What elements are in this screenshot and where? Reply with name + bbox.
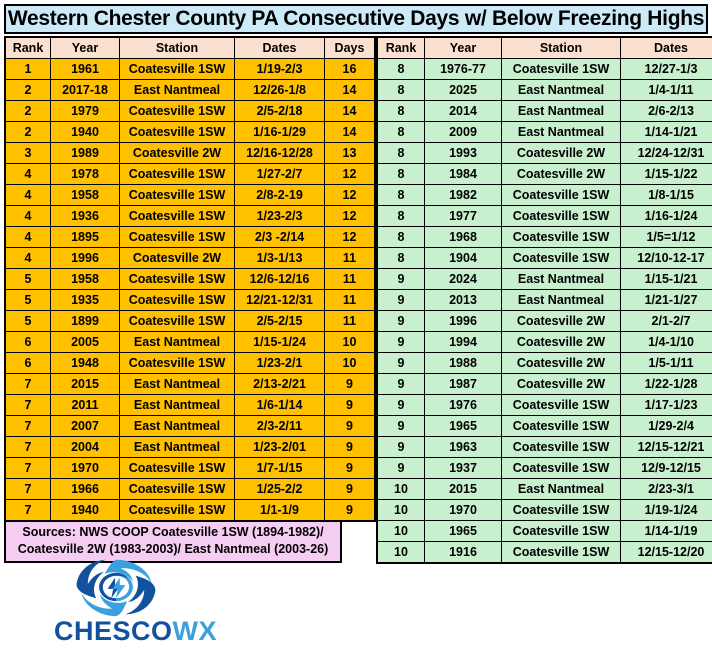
cell-rank: 7	[5, 458, 51, 479]
table-row: 81982Coatesville 1SW1/8-1/158	[377, 185, 712, 206]
cell-year: 1968	[425, 227, 502, 248]
cell-year: 1996	[51, 248, 120, 269]
cell-year: 1993	[425, 143, 502, 164]
header-days: Days	[325, 37, 376, 59]
cell-dates: 1/8-1/15	[621, 185, 712, 206]
cell-days: 9	[325, 416, 376, 437]
cell-days: 11	[325, 290, 376, 311]
cell-station: Coatesville 1SW	[120, 353, 235, 374]
cell-year: 2014	[425, 101, 502, 122]
cell-days: 9	[325, 374, 376, 395]
table-row: 71966Coatesville 1SW1/25-2/29	[5, 479, 375, 500]
cell-dates: 1/17-1/23	[621, 395, 712, 416]
cell-station: Coatesville 1SW	[502, 416, 621, 437]
cell-dates: 12/27-1/3	[621, 59, 712, 80]
cell-station: Coatesville 1SW	[502, 521, 621, 542]
cell-dates: 12/26-1/8	[235, 80, 325, 101]
cell-year: 1970	[425, 500, 502, 521]
table-row: 91996Coatesville 2W2/1-2/77	[377, 311, 712, 332]
table-body-left: 11961Coatesville 1SW1/19-2/31622017-18Ea…	[5, 59, 375, 522]
table-row: 41996Coatesville 2W1/3-1/1311	[5, 248, 375, 269]
cell-year: 1979	[51, 101, 120, 122]
cell-station: East Nantmeal	[502, 269, 621, 290]
cell-rank: 6	[5, 332, 51, 353]
cell-year: 2011	[51, 395, 120, 416]
cell-dates: 1/29-2/4	[621, 416, 712, 437]
cell-rank: 8	[377, 80, 425, 101]
cell-year: 1987	[425, 374, 502, 395]
cell-station: Coatesville 1SW	[502, 248, 621, 269]
cell-station: East Nantmeal	[502, 101, 621, 122]
cell-dates: 1/14-1/21	[621, 122, 712, 143]
cell-station: East Nantmeal	[120, 395, 235, 416]
cell-rank: 8	[377, 59, 425, 80]
header-row-left: Rank Year Station Dates Days	[5, 37, 375, 59]
table-row: 72015East Nantmeal2/13-2/219	[5, 374, 375, 395]
logo-wordmark: CHESCOWX	[28, 616, 243, 647]
cell-dates: 2/23-3/1	[621, 479, 712, 500]
page-title: Western Chester County PA Consecutive Da…	[8, 7, 704, 31]
cell-rank: 2	[5, 122, 51, 143]
cell-dates: 2/6-2/13	[621, 101, 712, 122]
cell-year: 1904	[425, 248, 502, 269]
cell-year: 1937	[425, 458, 502, 479]
cell-year: 2015	[51, 374, 120, 395]
table-row: 72011East Nantmeal1/6-1/149	[5, 395, 375, 416]
cell-station: Coatesville 2W	[502, 143, 621, 164]
cell-rank: 9	[377, 290, 425, 311]
table-row: 41936Coatesville 1SW1/23-2/312	[5, 206, 375, 227]
cell-rank: 10	[377, 500, 425, 521]
cell-year: 2015	[425, 479, 502, 500]
table-row: 81968Coatesville 1SW1/5=1/128	[377, 227, 712, 248]
cell-days: 11	[325, 269, 376, 290]
table-head-left: Rank Year Station Dates Days	[5, 37, 375, 59]
cell-dates: 1/7-1/15	[235, 458, 325, 479]
rankings-table-right: Rank Year Station Dates Days 81976-77Coa…	[376, 36, 712, 564]
cell-station: Coatesville 1SW	[502, 227, 621, 248]
header-rank: Rank	[5, 37, 51, 59]
infographic-root: Western Chester County PA Consecutive Da…	[0, 0, 712, 658]
cell-rank: 9	[377, 374, 425, 395]
cell-dates: 1/4-1/10	[621, 332, 712, 353]
cell-days: 11	[325, 248, 376, 269]
cell-days: 12	[325, 185, 376, 206]
table-row: 71970Coatesville 1SW1/7-1/159	[5, 458, 375, 479]
cell-days: 12	[325, 206, 376, 227]
table-row: 72004East Nantmeal1/23-2/019	[5, 437, 375, 458]
cell-dates: 1/1-1/9	[235, 500, 325, 522]
cell-rank: 5	[5, 269, 51, 290]
table-row: 92013East Nantmeal1/21-1/277	[377, 290, 712, 311]
table-row: 101965Coatesville 1SW1/14-1/196	[377, 521, 712, 542]
cell-year: 1965	[425, 521, 502, 542]
cell-year: 1982	[425, 185, 502, 206]
header-year: Year	[425, 37, 502, 59]
cell-days: 9	[325, 479, 376, 500]
cell-station: Coatesville 1SW	[120, 206, 235, 227]
cell-dates: 2/8-2-19	[235, 185, 325, 206]
cell-dates: 1/15-1/21	[621, 269, 712, 290]
cell-rank: 7	[5, 500, 51, 522]
cell-year: 1940	[51, 500, 120, 522]
cell-dates: 2/5-2/15	[235, 311, 325, 332]
cell-year: 1936	[51, 206, 120, 227]
cell-rank: 3	[5, 143, 51, 164]
cell-dates: 1/23-2/1	[235, 353, 325, 374]
cell-year: 1940	[51, 122, 120, 143]
cell-rank: 8	[377, 185, 425, 206]
table-row: 82009East Nantmeal1/14-1/218	[377, 122, 712, 143]
cell-days: 13	[325, 143, 376, 164]
cell-days: 10	[325, 332, 376, 353]
table-row: 41978Coatesville 1SW1/27-2/712	[5, 164, 375, 185]
header-station: Station	[502, 37, 621, 59]
cell-dates: 2/13-2/21	[235, 374, 325, 395]
table-row: 51935Coatesville 1SW12/21-12/3111	[5, 290, 375, 311]
table-row: 91965Coatesville 1SW1/29-2/47	[377, 416, 712, 437]
table-row: 31989Coatesville 2W12/16-12/2813	[5, 143, 375, 164]
cell-year: 1976	[425, 395, 502, 416]
table-row: 21940Coatesville 1SW1/16-1/2914	[5, 122, 375, 143]
cell-dates: 1/19-1/24	[621, 500, 712, 521]
cell-year: 2009	[425, 122, 502, 143]
cell-dates: 1/23-2/01	[235, 437, 325, 458]
cell-station: East Nantmeal	[120, 437, 235, 458]
cell-rank: 2	[5, 101, 51, 122]
cell-rank: 9	[377, 416, 425, 437]
cell-station: Coatesville 1SW	[120, 185, 235, 206]
cell-station: Coatesville 2W	[120, 143, 235, 164]
table-row: 81993Coatesville 2W12/24-12/318	[377, 143, 712, 164]
cell-rank: 9	[377, 353, 425, 374]
cell-station: Coatesville 1SW	[502, 185, 621, 206]
cell-days: 14	[325, 122, 376, 143]
cell-dates: 12/24-12/31	[621, 143, 712, 164]
header-rank: Rank	[377, 37, 425, 59]
cell-year: 1994	[425, 332, 502, 353]
cell-dates: 1/3-1/13	[235, 248, 325, 269]
header-station: Station	[120, 37, 235, 59]
table-row: 91987Coatesville 2W1/22-1/287	[377, 374, 712, 395]
cell-days: 9	[325, 500, 376, 522]
table-row: 101970Coatesville 1SW1/19-1/246	[377, 500, 712, 521]
cell-dates: 2/5-2/18	[235, 101, 325, 122]
cell-dates: 1/5=1/12	[621, 227, 712, 248]
cell-rank: 9	[377, 437, 425, 458]
cell-station: East Nantmeal	[502, 80, 621, 101]
table-head-right: Rank Year Station Dates Days	[377, 37, 712, 59]
cell-station: East Nantmeal	[502, 290, 621, 311]
table-row: 91994Coatesville 2W1/4-1/107	[377, 332, 712, 353]
cell-rank: 10	[377, 542, 425, 564]
cell-year: 1963	[425, 437, 502, 458]
cell-station: Coatesville 2W	[502, 374, 621, 395]
cell-rank: 8	[377, 248, 425, 269]
cell-station: Coatesville 1SW	[120, 500, 235, 522]
cell-station: East Nantmeal	[120, 80, 235, 101]
cell-rank: 8	[377, 227, 425, 248]
cell-rank: 4	[5, 227, 51, 248]
cell-year: 1916	[425, 542, 502, 564]
table-row: 81904Coatesville 1SW12/10-12-178	[377, 248, 712, 269]
cell-year: 1977	[425, 206, 502, 227]
table-row: 81984Coatesville 2W1/15-1/228	[377, 164, 712, 185]
header-dates: Dates	[235, 37, 325, 59]
cell-rank: 8	[377, 101, 425, 122]
cell-days: 9	[325, 437, 376, 458]
cell-year: 1988	[425, 353, 502, 374]
cell-year: 2024	[425, 269, 502, 290]
cell-rank: 4	[5, 206, 51, 227]
cell-days: 9	[325, 395, 376, 416]
cell-rank: 5	[5, 290, 51, 311]
cell-year: 1989	[51, 143, 120, 164]
cell-rank: 8	[377, 206, 425, 227]
cell-rank: 8	[377, 122, 425, 143]
table-row: 71940Coatesville 1SW1/1-1/99	[5, 500, 375, 522]
table-row: 81977Coatesville 1SW1/16-1/248	[377, 206, 712, 227]
table-row: 51958Coatesville 1SW12/6-12/1611	[5, 269, 375, 290]
cell-year: 1978	[51, 164, 120, 185]
cell-station: East Nantmeal	[502, 122, 621, 143]
cell-year: 1966	[51, 479, 120, 500]
cell-station: Coatesville 1SW	[502, 500, 621, 521]
cell-dates: 1/16-1/29	[235, 122, 325, 143]
cell-year: 1976-77	[425, 59, 502, 80]
cell-days: 10	[325, 353, 376, 374]
cell-year: 2013	[425, 290, 502, 311]
cell-year: 1961	[51, 59, 120, 80]
cell-dates: 1/15-1/24	[235, 332, 325, 353]
cell-station: Coatesville 2W	[502, 164, 621, 185]
cell-year: 2017-18	[51, 80, 120, 101]
cell-dates: 2/1-2/7	[621, 311, 712, 332]
table-row: 61948Coatesville 1SW1/23-2/110	[5, 353, 375, 374]
cell-rank: 8	[377, 143, 425, 164]
cell-dates: 12/21-12/31	[235, 290, 325, 311]
cell-station: Coatesville 1SW	[120, 101, 235, 122]
cell-year: 1895	[51, 227, 120, 248]
cell-dates: 1/14-1/19	[621, 521, 712, 542]
cell-dates: 12/10-12-17	[621, 248, 712, 269]
cell-station: Coatesville 1SW	[502, 395, 621, 416]
table-row: 91976Coatesville 1SW1/17-1/237	[377, 395, 712, 416]
cell-station: East Nantmeal	[120, 416, 235, 437]
cell-rank: 4	[5, 248, 51, 269]
cell-station: Coatesville 1SW	[502, 59, 621, 80]
header-year: Year	[51, 37, 120, 59]
cell-rank: 1	[5, 59, 51, 80]
cell-rank: 7	[5, 395, 51, 416]
cell-rank: 10	[377, 521, 425, 542]
cell-dates: 1/21-1/27	[621, 290, 712, 311]
table-row: 91963Coatesville 1SW12/15-12/217	[377, 437, 712, 458]
cell-dates: 1/4-1/11	[621, 80, 712, 101]
cell-rank: 9	[377, 311, 425, 332]
table-row: 91988Coatesville 2W1/5-1/117	[377, 353, 712, 374]
table-row: 41895Coatesville 1SW2/3 -2/1412	[5, 227, 375, 248]
cell-station: Coatesville 1SW	[120, 164, 235, 185]
cell-year: 2007	[51, 416, 120, 437]
cell-rank: 9	[377, 395, 425, 416]
cell-dates: 1/23-2/3	[235, 206, 325, 227]
cell-rank: 5	[5, 311, 51, 332]
table-row: 41958Coatesville 1SW2/8-2-1912	[5, 185, 375, 206]
cell-dates: 12/16-12/28	[235, 143, 325, 164]
cell-rank: 4	[5, 185, 51, 206]
cell-station: Coatesville 1SW	[502, 542, 621, 564]
cell-station: East Nantmeal	[120, 332, 235, 353]
cell-rank: 9	[377, 269, 425, 290]
logo-text-chesco: CHESCO	[54, 616, 173, 646]
cell-rank: 10	[377, 479, 425, 500]
table-row: 21979Coatesville 1SW2/5-2/1814	[5, 101, 375, 122]
cell-dates: 2/3-2/11	[235, 416, 325, 437]
cell-station: Coatesville 1SW	[120, 227, 235, 248]
cell-station: Coatesville 1SW	[502, 206, 621, 227]
cell-station: Coatesville 1SW	[120, 458, 235, 479]
cell-dates: 2/3 -2/14	[235, 227, 325, 248]
cell-dates: 12/15-12/21	[621, 437, 712, 458]
cell-rank: 7	[5, 416, 51, 437]
cell-rank: 9	[377, 332, 425, 353]
cell-station: Coatesville 1SW	[120, 122, 235, 143]
cell-year: 2025	[425, 80, 502, 101]
cell-days: 12	[325, 227, 376, 248]
title-bar: Western Chester County PA Consecutive Da…	[4, 4, 708, 34]
cell-rank: 2	[5, 80, 51, 101]
sources-line-1: Sources: NWS COOP Coatesville 1SW (1894-…	[6, 524, 340, 541]
cell-days: 14	[325, 101, 376, 122]
table-row: 22017-18East Nantmeal12/26-1/814	[5, 80, 375, 101]
table-row: 101916Coatesville 1SW12/15-12/206	[377, 542, 712, 564]
cell-year: 2004	[51, 437, 120, 458]
cell-rank: 9	[377, 458, 425, 479]
logo-text-wx: WX	[173, 616, 218, 646]
cell-rank: 6	[5, 353, 51, 374]
table-row: 91937Coatesville 1SW12/9-12/157	[377, 458, 712, 479]
cell-station: Coatesville 1SW	[502, 437, 621, 458]
cell-station: Coatesville 1SW	[120, 59, 235, 80]
cell-station: East Nantmeal	[502, 479, 621, 500]
cell-dates: 1/22-1/28	[621, 374, 712, 395]
cell-days: 9	[325, 458, 376, 479]
cell-rank: 4	[5, 164, 51, 185]
rankings-table-left: Rank Year Station Dates Days 11961Coates…	[4, 36, 376, 522]
chescowx-logo: CHESCOWX	[28, 556, 243, 656]
table-row: 72007East Nantmeal2/3-2/119	[5, 416, 375, 437]
cell-year: 1958	[51, 269, 120, 290]
table-row: 82014East Nantmeal2/6-2/138	[377, 101, 712, 122]
cell-station: Coatesville 2W	[502, 332, 621, 353]
cell-dates: 12/15-12/20	[621, 542, 712, 564]
left-column: Rank Year Station Dates Days 11961Coates…	[4, 36, 376, 563]
cell-days: 16	[325, 59, 376, 80]
cell-dates: 1/25-2/2	[235, 479, 325, 500]
cell-year: 1958	[51, 185, 120, 206]
cell-dates: 1/6-1/14	[235, 395, 325, 416]
cell-days: 12	[325, 164, 376, 185]
cell-year: 2005	[51, 332, 120, 353]
header-dates: Dates	[621, 37, 712, 59]
cell-year: 1996	[425, 311, 502, 332]
cell-station: Coatesville 1SW	[120, 290, 235, 311]
cell-dates: 1/27-2/7	[235, 164, 325, 185]
table-row: 62005East Nantmeal1/15-1/2410	[5, 332, 375, 353]
cell-year: 1965	[425, 416, 502, 437]
cell-year: 1984	[425, 164, 502, 185]
header-row-right: Rank Year Station Dates Days	[377, 37, 712, 59]
cell-dates: 1/5-1/11	[621, 353, 712, 374]
table-row: 92024East Nantmeal1/15-1/217	[377, 269, 712, 290]
tables-container: Rank Year Station Dates Days 11961Coates…	[4, 36, 708, 564]
cell-rank: 8	[377, 164, 425, 185]
cell-station: Coatesville 1SW	[120, 311, 235, 332]
cell-dates: 1/16-1/24	[621, 206, 712, 227]
cell-rank: 7	[5, 479, 51, 500]
cell-station: Coatesville 1SW	[120, 269, 235, 290]
cell-station: Coatesville 1SW	[120, 479, 235, 500]
cell-year: 1970	[51, 458, 120, 479]
cell-station: Coatesville 1SW	[502, 458, 621, 479]
table-row: 51899Coatesville 1SW2/5-2/1511	[5, 311, 375, 332]
cell-year: 1935	[51, 290, 120, 311]
cell-days: 14	[325, 80, 376, 101]
cell-dates: 1/15-1/22	[621, 164, 712, 185]
cell-dates: 12/6-12/16	[235, 269, 325, 290]
cell-station: Coatesville 2W	[502, 311, 621, 332]
table-row: 82025East Nantmeal1/4-1/118	[377, 80, 712, 101]
cell-rank: 7	[5, 437, 51, 458]
swirl-logo-icon	[68, 556, 164, 618]
cell-year: 1948	[51, 353, 120, 374]
table-body-right: 81976-77Coatesville 1SW12/27-1/3882025Ea…	[377, 59, 712, 564]
cell-days: 11	[325, 311, 376, 332]
table-row: 81976-77Coatesville 1SW12/27-1/38	[377, 59, 712, 80]
cell-station: Coatesville 2W	[502, 353, 621, 374]
cell-station: East Nantmeal	[120, 374, 235, 395]
cell-dates: 12/9-12/15	[621, 458, 712, 479]
cell-station: Coatesville 2W	[120, 248, 235, 269]
cell-year: 1899	[51, 311, 120, 332]
cell-rank: 7	[5, 374, 51, 395]
table-row: 102015East Nantmeal2/23-3/16	[377, 479, 712, 500]
cell-dates: 1/19-2/3	[235, 59, 325, 80]
table-row: 11961Coatesville 1SW1/19-2/316	[5, 59, 375, 80]
